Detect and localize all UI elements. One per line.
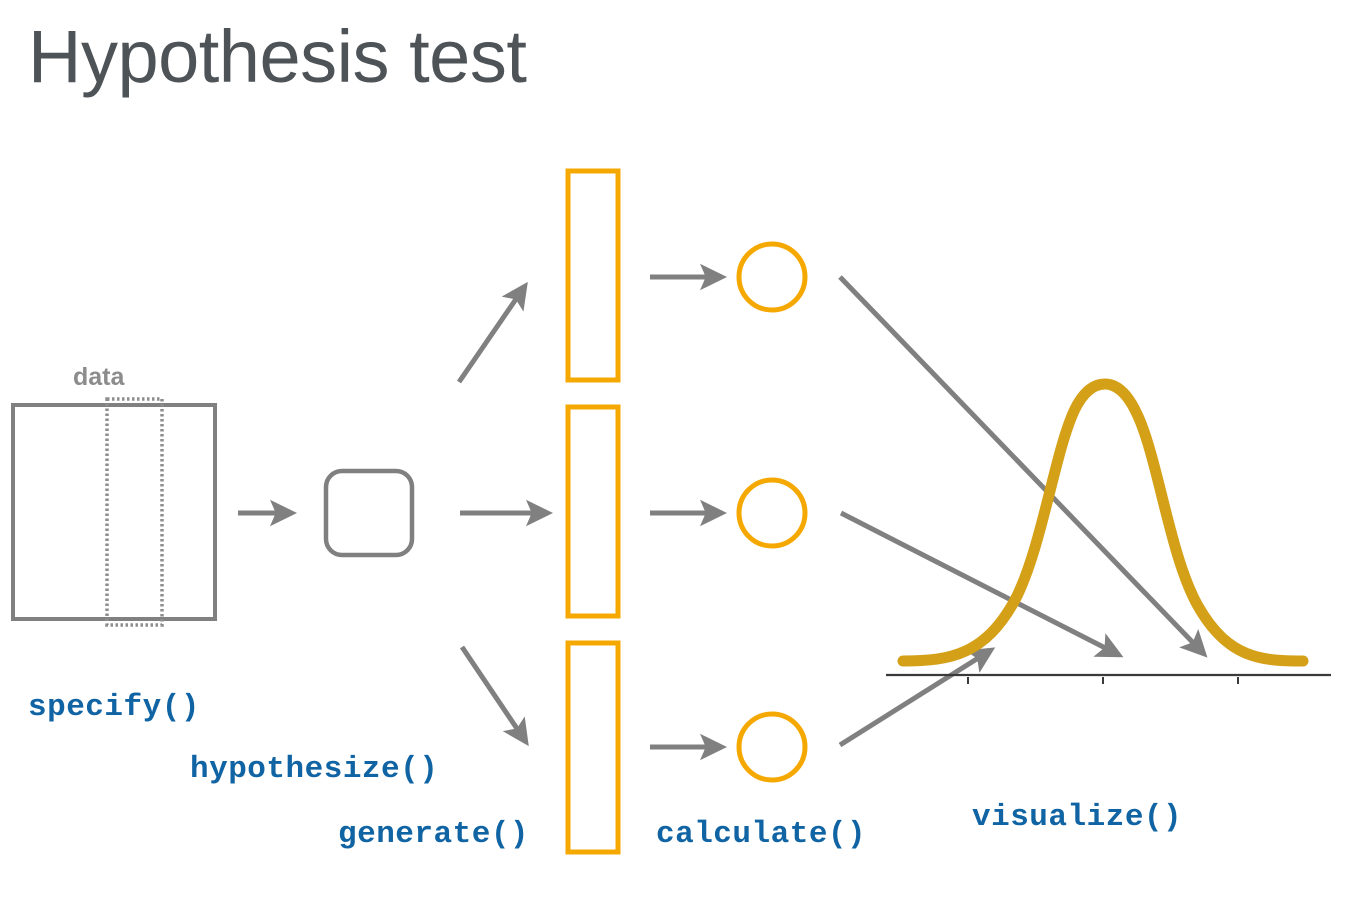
- replicate-rect-2: [568, 407, 618, 616]
- statistic-circle-3: [739, 714, 805, 780]
- slide-canvas: Hypothesis test data H0 specify() hypoth…: [0, 0, 1346, 897]
- null-distribution-curve: [903, 384, 1303, 661]
- hypothesis-test-diagram: [0, 0, 1346, 897]
- arrow-h0-to-replicate-top: [459, 286, 525, 382]
- data-box: [13, 399, 215, 625]
- null-hypothesis-box: [326, 471, 412, 555]
- statistic-circle-2: [739, 480, 805, 546]
- statistic-circle-1: [739, 244, 805, 310]
- arrow-statistic-to-distribution-2: [841, 513, 1119, 655]
- replicate-rect-1: [568, 171, 618, 380]
- replicate-rect-3: [568, 643, 618, 852]
- arrow-h0-to-replicate-bottom: [462, 647, 526, 742]
